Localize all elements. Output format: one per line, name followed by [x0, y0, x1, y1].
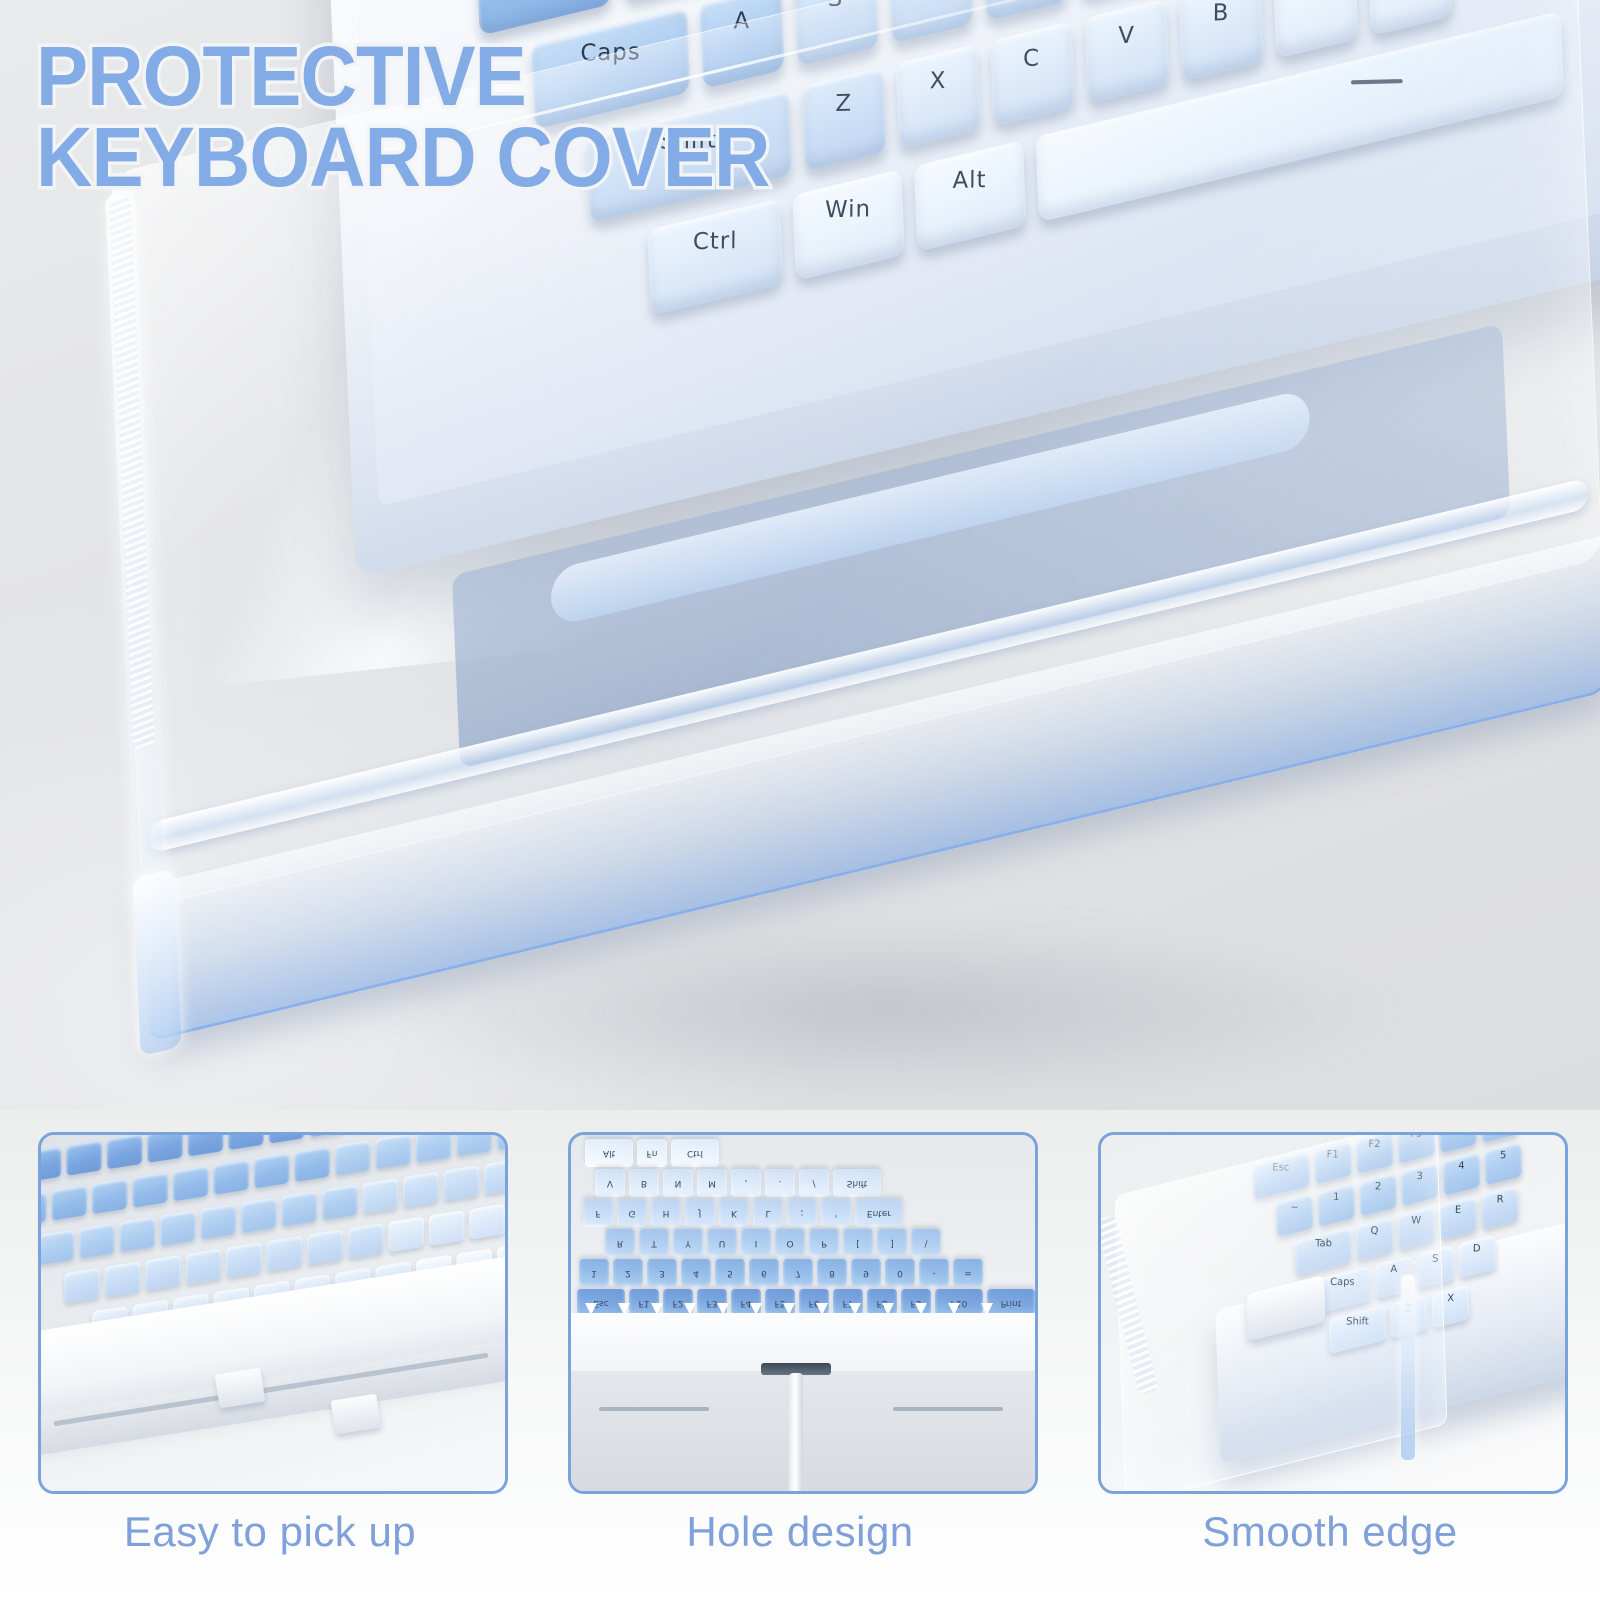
mini-key-f5: F5 — [1481, 1132, 1519, 1143]
mini-key-g: G — [617, 1199, 647, 1227]
mini-row-row-d: FGHJKL;'Enter — [583, 1199, 903, 1227]
product-floor-shadow — [170, 880, 1600, 1110]
mini-key-4: 4 — [1443, 1152, 1481, 1196]
mini-key — [226, 1242, 262, 1278]
mini-key-: ; — [787, 1199, 817, 1227]
key-label: Win — [825, 196, 871, 223]
mini-key-ctrl: Ctrl — [671, 1139, 719, 1167]
mini-key — [269, 1132, 305, 1144]
mini-key — [322, 1184, 358, 1220]
mini-key-0: 0 — [885, 1259, 915, 1287]
mini-key-8: 8 — [817, 1259, 847, 1287]
mini-row-row-b: 1234567890-= — [579, 1259, 983, 1287]
key-label: C — [1023, 45, 1040, 72]
page-title: PROTECTIVE KEYBOARD COVER — [36, 36, 966, 199]
key-label: S — [828, 0, 844, 12]
mini-key-5: 5 — [715, 1259, 745, 1287]
mini-key-u: U — [707, 1229, 737, 1257]
mini-key-fn: Fn — [637, 1139, 667, 1167]
mini-key — [241, 1197, 277, 1233]
mini-key — [51, 1185, 87, 1221]
mini-key-alt: Alt — [585, 1139, 633, 1167]
mini-key — [79, 1223, 115, 1259]
feature-panel-easy-to-pick-up[interactable] — [38, 1132, 508, 1494]
mini-key — [66, 1140, 102, 1176]
mini-key-r: R — [605, 1229, 635, 1257]
key-m[interactable]: M — [1367, 0, 1452, 36]
mini-key — [201, 1204, 237, 1240]
mini-key — [375, 1133, 411, 1169]
mini-key-label: R — [1496, 1194, 1503, 1205]
feature-panel-hole-design[interactable]: AltFnCtrlVBNM,./ShiftFGHJKL;'EnterRTYUIO… — [568, 1132, 1038, 1494]
mini-key-o: O — [775, 1229, 805, 1257]
key-c[interactable]: C — [990, 21, 1075, 126]
mini-key-: = — [953, 1259, 983, 1287]
mini-key — [92, 1178, 128, 1214]
mini-key — [267, 1236, 303, 1272]
mini-key — [497, 1132, 508, 1150]
mini-key-m: M — [697, 1169, 727, 1197]
mini-key-label: 4 — [1458, 1161, 1465, 1172]
mini-key-v: V — [595, 1169, 625, 1197]
mini-key-j: J — [685, 1199, 715, 1227]
mini-key — [429, 1210, 465, 1246]
key-v[interactable]: V — [1084, 0, 1169, 104]
key-label: Ctrl — [692, 228, 737, 255]
cover-slot-right — [893, 1407, 1003, 1411]
mini-key-f: F — [583, 1199, 613, 1227]
mini-key — [388, 1216, 424, 1252]
mini-key-t: T — [639, 1229, 669, 1257]
caption-hole-design: Hole design — [568, 1508, 1032, 1556]
mini-key-: . — [765, 1169, 795, 1197]
mini-key — [107, 1133, 143, 1169]
mini-key-5: 5 — [1484, 1141, 1522, 1185]
mini-key-: ] — [877, 1229, 907, 1257]
mini-key — [348, 1223, 384, 1259]
mini-key-f4: F4 — [1439, 1132, 1477, 1153]
mini-key — [484, 1159, 508, 1195]
mini-key — [403, 1172, 439, 1208]
mini-key-: ' — [821, 1199, 851, 1227]
key-label: B — [1212, 0, 1229, 27]
easy-pick-up-illustration — [41, 1135, 505, 1491]
mini-key-label: E — [1455, 1205, 1461, 1216]
mini-key-2: 2 — [613, 1259, 643, 1287]
key-q[interactable]: Q — [621, 0, 706, 1]
mini-key-y: Y — [673, 1229, 703, 1257]
mini-key — [188, 1132, 224, 1157]
cover-slot-left — [599, 1407, 709, 1411]
mini-key — [469, 1204, 505, 1240]
mini-key-p: P — [809, 1229, 839, 1257]
mini-key-: - — [919, 1259, 949, 1287]
mini-key-: / — [799, 1169, 829, 1197]
mini-key-n: N — [663, 1169, 693, 1197]
mini-key — [105, 1261, 141, 1297]
mini-key-e: E — [1439, 1196, 1477, 1240]
mini-key — [173, 1165, 209, 1201]
mini-key-label: D — [1473, 1243, 1481, 1254]
cover-ridge-texture — [109, 196, 154, 751]
mini-keycap-grid-inverted: AltFnCtrlVBNM,./ShiftFGHJKL;'EnterRTYUIO… — [577, 1139, 1029, 1311]
mini-key-: , — [731, 1169, 761, 1197]
product-image: EscF1F2F3F4F5F6F7F8F9F10F11` ~1 !2 @3 #4… — [0, 0, 1600, 1600]
key-label: V — [1118, 23, 1135, 50]
mini-row-row-f: AltFnCtrl — [585, 1139, 719, 1167]
hole-design-illustration: AltFnCtrlVBNM,./ShiftFGHJKL;'EnterRTYUIO… — [571, 1135, 1035, 1491]
mini-key — [160, 1210, 196, 1246]
pick-up-tab-right — [331, 1394, 382, 1435]
mini-key-d: D — [1458, 1235, 1496, 1279]
pick-up-tab-left — [215, 1368, 266, 1409]
mini-key-r: R — [1481, 1186, 1519, 1230]
cover-left-wall — [105, 189, 171, 1051]
mini-key-label: 5 — [1500, 1150, 1507, 1161]
mini-key — [363, 1178, 399, 1214]
mini-key-7: 7 — [783, 1259, 813, 1287]
key-f[interactable]: F — [982, 0, 1067, 21]
mini-key — [147, 1132, 183, 1163]
mini-key-6: 6 — [749, 1259, 779, 1287]
key-ctrl[interactable]: Ctrl — [647, 198, 783, 315]
mini-key — [335, 1140, 371, 1176]
mini-key-1: 1 — [579, 1259, 609, 1287]
mini-key — [38, 1191, 47, 1227]
mini-key-h: H — [651, 1199, 681, 1227]
mini-key — [444, 1165, 480, 1201]
cover-underside — [571, 1371, 1035, 1491]
key-b[interactable]: B — [1179, 0, 1264, 81]
key-n[interactable]: N — [1273, 0, 1358, 58]
cover-corner-post — [1401, 1275, 1415, 1460]
mini-row-row-e: VBNM,./Shift — [595, 1169, 881, 1197]
mini-key-shift: Shift — [833, 1169, 881, 1197]
hero-section: EscF1F2F3F4F5F6F7F8F9F10F11` ~1 !2 @3 #4… — [0, 0, 1600, 1110]
key-label: N — [1306, 0, 1324, 4]
mini-key — [309, 1132, 345, 1137]
feature-panels: AltFnCtrlVBNM,./ShiftFGHJKL;'EnterRTYUIO… — [0, 1110, 1600, 1600]
smooth-edge-illustration: EscF1F2F3F4F5~12345TabQWERCapsASDShiftZX — [1101, 1135, 1565, 1491]
mini-key-i: I — [741, 1229, 771, 1257]
mini-key — [64, 1268, 100, 1304]
mini-key — [120, 1216, 156, 1252]
mini-key-: [ — [843, 1229, 873, 1257]
mini-key — [228, 1132, 264, 1150]
mini-row-row-c: RTYUIOP[]\ — [605, 1229, 941, 1257]
mini-key — [132, 1172, 168, 1208]
mini-key — [282, 1191, 318, 1227]
mini-key — [254, 1153, 290, 1189]
mini-key-4: 4 — [681, 1259, 711, 1287]
caption-easy-to-pick-up: Easy to pick up — [38, 1508, 502, 1556]
key-label: A — [733, 8, 750, 35]
mini-key — [145, 1255, 181, 1291]
mini-key — [416, 1132, 452, 1163]
mini-key-l: L — [753, 1199, 783, 1227]
mini-key — [39, 1229, 75, 1265]
mini-key-b: B — [629, 1169, 659, 1197]
mini-key — [294, 1146, 330, 1182]
mini-key — [307, 1229, 343, 1265]
mini-key-9: 9 — [851, 1259, 881, 1287]
mini-key — [186, 1249, 222, 1285]
mini-key — [38, 1146, 61, 1182]
caption-smooth-edge: Smooth edge — [1098, 1508, 1562, 1556]
mini-key-k: K — [719, 1199, 749, 1227]
mini-key-label: X — [1447, 1293, 1454, 1304]
mini-key — [213, 1159, 249, 1195]
mini-key — [456, 1132, 492, 1157]
mini-key-3: 3 — [647, 1259, 677, 1287]
mini-key-enter: Enter — [855, 1199, 903, 1227]
mini-key-: \ — [911, 1229, 941, 1257]
feature-panel-smooth-edge[interactable]: EscF1F2F3F4F5~12345TabQWERCapsASDShiftZX — [1098, 1132, 1568, 1494]
usb-cable — [789, 1373, 803, 1493]
